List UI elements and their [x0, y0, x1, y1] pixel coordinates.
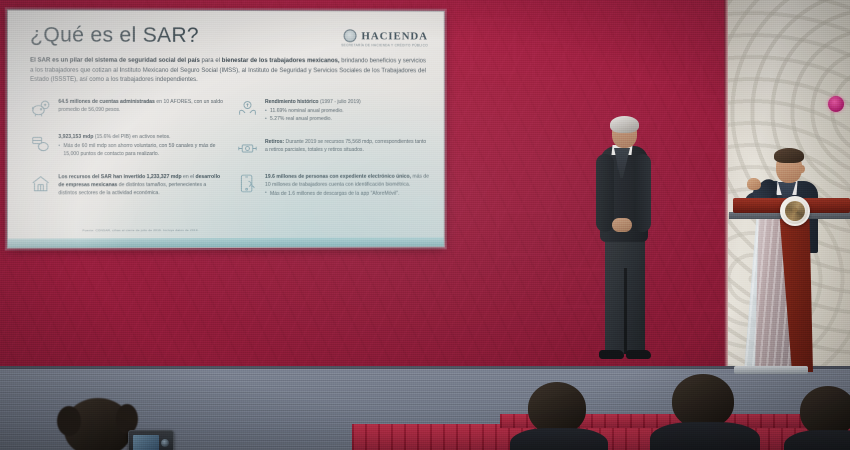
audience-shoulders [650, 422, 760, 450]
podium-base [734, 366, 808, 374]
audience-member-2 [528, 382, 586, 434]
item-body: (15.6% del PIB) en activos netos. [93, 134, 170, 140]
seal-eagle-emblem [785, 201, 805, 221]
audience-head [528, 382, 586, 434]
projection-screen: ¿Qué es el SAR? HACIENDA SECRETARÍA DE H… [7, 9, 445, 248]
item-lead: 64.5 millones de cuentas administradas [58, 99, 155, 105]
item-lead: 19.6 millones de personas con expediente… [265, 173, 411, 179]
slide-item-accounts: 64.5 millones de cuentas administradas e… [30, 98, 225, 119]
slide-item-text: 64.5 millones de cuentas administradas e… [58, 98, 225, 114]
item-bullets: Más de 1.6 millones de descargas de la a… [265, 190, 430, 198]
item-bullet: Más de 60 mil mdp son ahorro voluntario,… [58, 142, 225, 158]
item-bullets: Más de 60 mil mdp son ahorro voluntario,… [58, 142, 225, 158]
item-body: (1997 - julio 2019) [319, 99, 361, 105]
audience-head [672, 374, 734, 428]
intro-bold-1: El SAR es un pilar del sistema de seguri… [30, 58, 200, 64]
slide-item-text: Los recursos del SAR han invertido 1,233… [58, 173, 225, 198]
hacienda-logo-subtitle: SECRETARÍA DE HACIENDA Y CRÉDITO PÚBLICO [341, 43, 428, 47]
standing-man-arm-right [634, 154, 651, 232]
slide-item-digital: 19.6 millones de personas con expediente… [237, 172, 430, 198]
wall-panel-seam [724, 0, 728, 372]
item-lead: 3,923,153 mdp [58, 134, 93, 140]
piggy-bank-icon [30, 98, 51, 119]
hacienda-seal-icon [344, 29, 357, 42]
slide-item-text: Retiros: Durante 2019 se recursos 75,568… [265, 138, 430, 154]
hacienda-logo-text: HACIENDA [361, 30, 428, 42]
phone-screen [133, 435, 159, 450]
slide-item-assets: 3,923,153 mdp (15.6% del PIB) en activos… [30, 133, 225, 159]
audience-member-1 [64, 398, 132, 450]
audience-head [800, 386, 850, 436]
slide-item-text: Rendimiento histórico (1997 - julio 2019… [265, 98, 361, 123]
man-in-dark-suit-standing [588, 118, 660, 368]
audience-member-4 [800, 386, 850, 436]
intro-bold-2: bienestar de los trabajadores mexicanos, [222, 58, 340, 64]
stage-floor-edge [0, 366, 850, 369]
item-lead: Retiros: [265, 139, 284, 145]
slide-source-note: Fuente: CONSAR, cifras al cierre de juli… [83, 228, 199, 232]
screen-bottom-bar [8, 237, 444, 247]
intro-normal-1: para el [200, 58, 222, 64]
item-lead: Rendimiento histórico [265, 99, 319, 105]
standing-man-shoe-left [599, 350, 624, 359]
mexican-national-seal-icon [780, 196, 810, 226]
audience-member-3 [672, 374, 734, 428]
item-bullets: 11.69% nominal anual promedio. 5.27% rea… [265, 107, 361, 123]
item-bullet: 11.69% nominal anual promedio. [265, 107, 361, 115]
slide-columns: 64.5 millones de cuentas administradas e… [30, 98, 430, 198]
item-bullet: Más de 1.6 millones de descargas de la a… [265, 190, 430, 198]
hand-coin-icon [237, 98, 258, 119]
audience-head [64, 398, 132, 450]
item-body: en el [182, 174, 196, 180]
money-transfer-icon [237, 138, 258, 159]
item-lead: Los recursos del SAR han invertido 1,233… [58, 174, 181, 180]
slide-item-investment: Los recursos del SAR han invertido 1,233… [30, 173, 225, 198]
standing-man-shoe-right [626, 350, 651, 359]
slide-item-text: 19.6 millones de personas con expediente… [265, 172, 430, 198]
slide-column-right: Rendimiento histórico (1997 - julio 2019… [237, 98, 430, 198]
standing-man-leg-gap [624, 268, 627, 354]
presentation-slide: ¿Qué es el SAR? HACIENDA SECRETARÍA DE H… [8, 10, 444, 247]
audience-shoulders [510, 428, 608, 450]
standing-man-hair [610, 116, 639, 133]
house-icon [30, 173, 51, 194]
slide-column-left: 64.5 millones de cuentas administradas e… [30, 98, 225, 198]
slide-item-text: 3,923,153 mdp (15.6% del PIB) en activos… [58, 133, 225, 159]
standing-man-arm-left [596, 154, 614, 232]
speaker-ear [799, 165, 805, 173]
standing-man-clasped-hands [612, 218, 632, 232]
item-body: Durante 2019 se recursos 75,568 mdp [284, 139, 372, 145]
coins-icon [30, 133, 51, 154]
camera-lens-icon [161, 439, 169, 447]
mobile-phone-icon [237, 173, 258, 194]
pink-accent-dot-icon [828, 96, 844, 112]
hacienda-logo: HACIENDA [344, 29, 428, 42]
press-conference-scene: ¿Qué es el SAR? HACIENDA SECRETARÍA DE H… [0, 0, 850, 450]
speaker-hair [774, 148, 804, 163]
slide-item-returns: Rendimiento histórico (1997 - julio 2019… [237, 98, 430, 123]
slide-intro-paragraph: El SAR es un pilar del sistema de seguri… [30, 57, 426, 87]
speaker-gesturing-hand [747, 178, 761, 190]
camera-phone-device[interactable] [128, 430, 174, 450]
item-bullet: 5.27% real anual promedio. [265, 115, 361, 123]
slide-item-withdrawals: Retiros: Durante 2019 se recursos 75,568… [237, 138, 430, 159]
